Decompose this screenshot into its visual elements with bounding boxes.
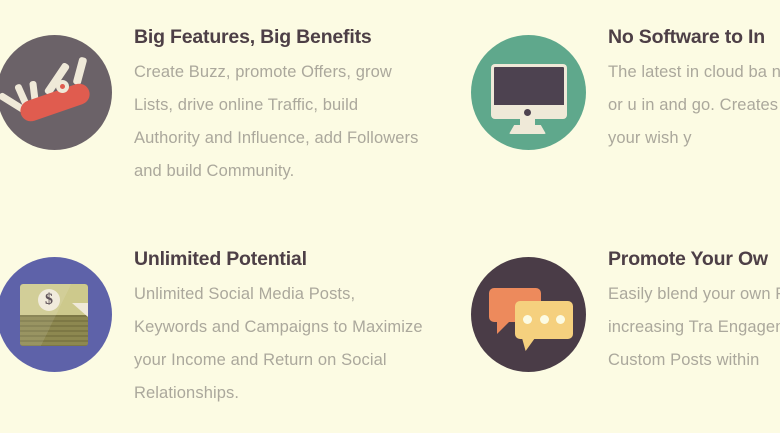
chat-typing-dots: [523, 315, 565, 324]
knife-blade: [73, 56, 88, 85]
chat-bubbles-icon: [471, 257, 586, 372]
desktop-monitor-icon: [471, 35, 586, 150]
feature-block-no-software: No Software to In The latest in cloud ba…: [471, 24, 780, 155]
feature-text: Promote Your Ow Easily blend your own Fe…: [586, 246, 780, 377]
dollar-sign-icon: $: [38, 289, 60, 311]
chat-bubble-front-tail: [522, 338, 535, 351]
swiss-army-knife-icon: [0, 35, 112, 150]
feature-icon-wrapper: [471, 35, 586, 150]
feature-block-unlimited-potential: $ Unlimited Potential Unlimited Social M…: [0, 246, 427, 410]
feature-text: No Software to In The latest in cloud ba…: [586, 24, 780, 155]
feature-block-big-features: Big Features, Big Benefits Create Buzz, …: [0, 24, 427, 188]
feature-icon-wrapper: [471, 257, 586, 372]
feature-icon-wrapper: [0, 35, 112, 150]
feature-icon-wrapper: $: [0, 257, 112, 372]
feature-description: Easily blend your own Feeds, increasing …: [608, 272, 780, 377]
monitor-logo-dot: [524, 109, 531, 116]
knife-emblem: [56, 80, 69, 93]
feature-title: Big Features, Big Benefits: [134, 24, 427, 50]
feature-description: Unlimited Social Media Posts, Keywords a…: [134, 272, 427, 410]
features-grid: Big Features, Big Benefits Create Buzz, …: [0, 0, 780, 433]
feature-description: The latest in cloud ba nothing to instal…: [608, 50, 780, 155]
feature-text: Unlimited Potential Unlimited Social Med…: [112, 246, 427, 410]
money-stack-icon: $: [0, 257, 112, 372]
money-stack-body: $: [20, 284, 88, 346]
feature-text: Big Features, Big Benefits Create Buzz, …: [112, 24, 427, 188]
chat-bubble-back-tail: [497, 321, 510, 334]
feature-description: Create Buzz, promote Offers, grow Lists,…: [134, 50, 427, 188]
money-bill-edges: [20, 312, 88, 346]
feature-block-promote-your-own: Promote Your Ow Easily blend your own Fe…: [471, 246, 780, 377]
feature-title: No Software to In: [608, 24, 780, 50]
monitor-stand: [509, 125, 546, 134]
feature-title: Unlimited Potential: [134, 246, 427, 272]
feature-title: Promote Your Ow: [608, 246, 780, 272]
